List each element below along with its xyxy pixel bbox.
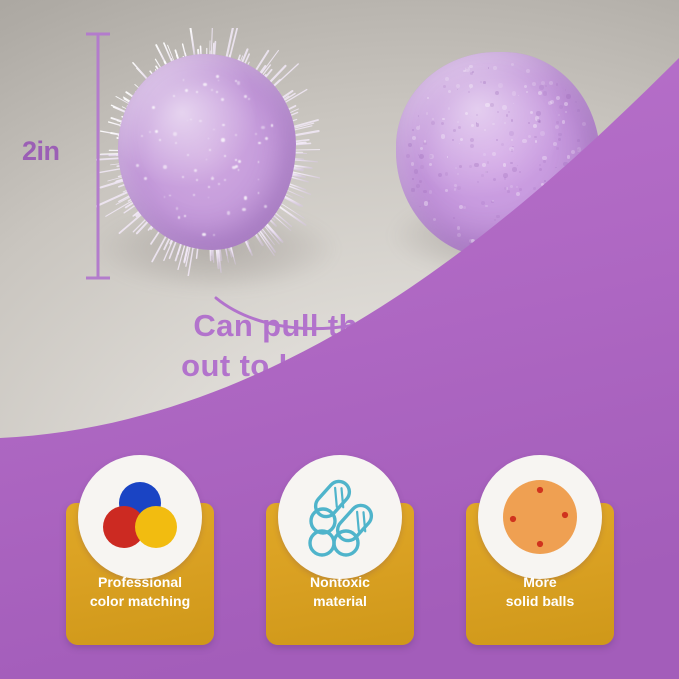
feature-badge-solid-balls[interactable]: More solid balls — [438, 455, 641, 650]
callout-line-1: Can pull the tinsels — [0, 306, 679, 346]
plain-pom-pom-ball — [392, 48, 604, 262]
badge-label-line-1: Professional — [66, 573, 214, 592]
measurement-label: 2in — [22, 136, 60, 167]
badge-label: More solid balls — [466, 573, 614, 611]
pink-fleck — [532, 200, 541, 207]
solid-ball-icon — [494, 471, 586, 563]
feature-badge-nontoxic-material[interactable]: Nontoxic material — [238, 455, 441, 650]
product-photo-area: 2in Can pull the tinsels out to be anoth… — [0, 0, 679, 470]
badge-label: Professional color matching — [66, 573, 214, 611]
badge-label-line-1: Nontoxic — [266, 573, 414, 592]
tinsel-pom-pom-ball — [96, 28, 320, 276]
callout-text: Can pull the tinsels out to be another t… — [0, 306, 679, 385]
callout-line-2: out to be another toy — [0, 346, 679, 386]
color-wheel-icon — [94, 471, 186, 563]
measurement-line — [78, 30, 118, 282]
product-infographic: 2in Can pull the tinsels out to be anoth… — [0, 0, 679, 679]
badge-label-line-2: color matching — [66, 592, 214, 611]
badge-label-line-2: material — [266, 592, 414, 611]
badge-label-line-2: solid balls — [466, 592, 614, 611]
badge-label-line-1: More — [466, 573, 614, 592]
fiber-bundle-icon — [294, 471, 386, 563]
badge-label: Nontoxic material — [266, 573, 414, 611]
feature-badge-color-matching[interactable]: Professional color matching — [38, 455, 241, 650]
feature-badges: Professional color matching — [0, 455, 679, 655]
size-measurement — [78, 30, 118, 282]
